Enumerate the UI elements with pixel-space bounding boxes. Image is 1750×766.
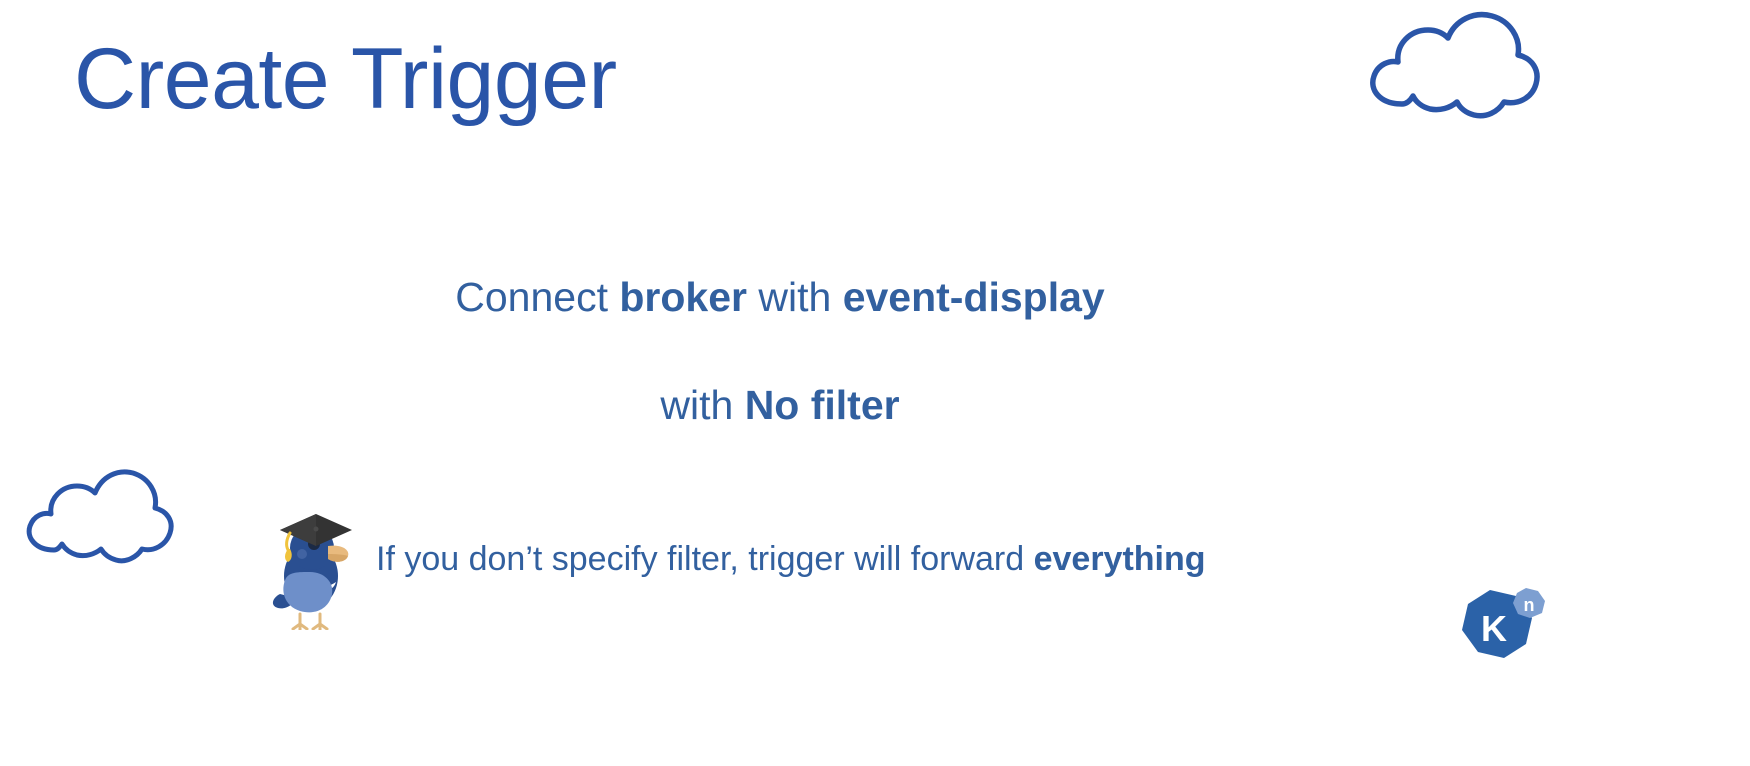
with-label-2: with (660, 382, 744, 428)
cloud-outline-icon (18, 464, 180, 564)
connect-label: Connect (455, 274, 619, 320)
instruction-line-connect: Connect broker with event-display (0, 274, 1750, 321)
event-display-label: event-display (843, 274, 1105, 320)
knative-logo: K n (1448, 586, 1552, 678)
instruction-line-filter: with No filter (0, 382, 1750, 429)
knative-logo-n: n (1524, 595, 1535, 615)
broker-label: broker (619, 274, 747, 320)
cloud-outline-icon (1360, 8, 1540, 120)
graduate-bird-icon (266, 502, 356, 630)
page-title: Create Trigger (74, 34, 617, 124)
slide-canvas: Create Trigger Connect broker with event… (0, 0, 1750, 766)
instruction-note: If you don’t specify filter, trigger wil… (376, 540, 1206, 579)
everything-label: everything (1034, 540, 1206, 578)
knative-logo-k: K (1481, 608, 1507, 649)
with-label: with (747, 274, 843, 320)
no-filter-label: No filter (745, 382, 900, 428)
note-text: If you don’t specify filter, trigger wil… (376, 540, 1034, 578)
